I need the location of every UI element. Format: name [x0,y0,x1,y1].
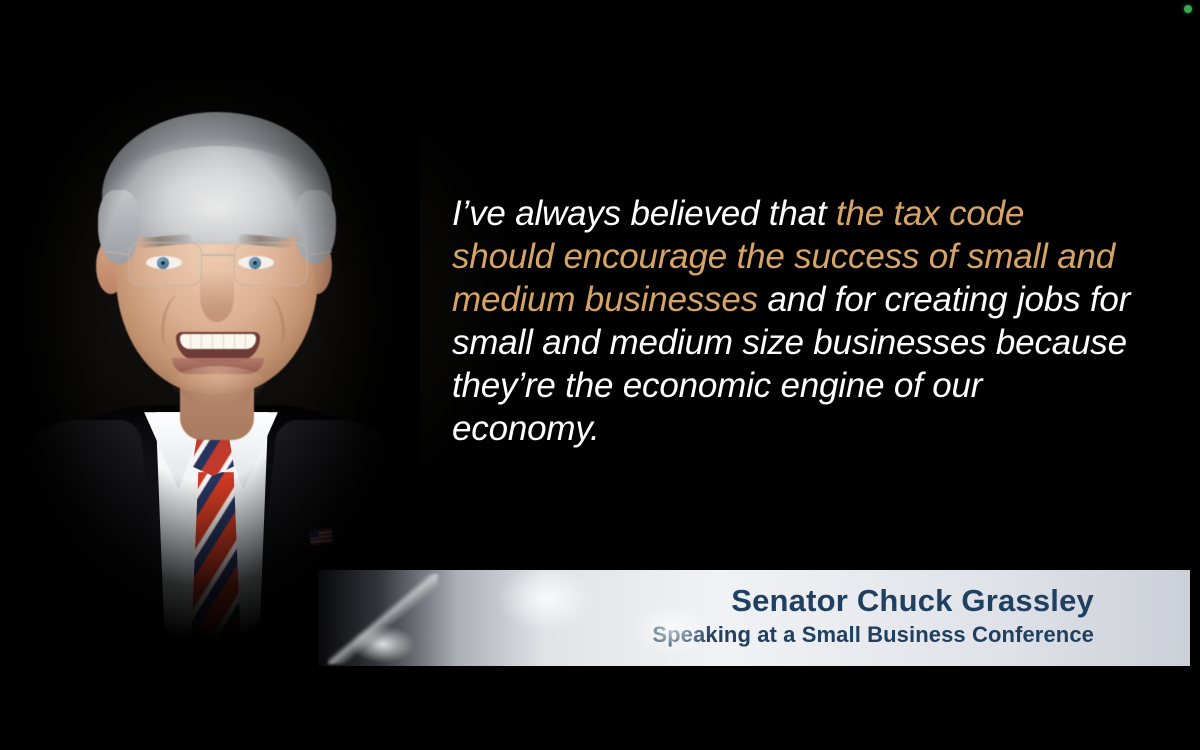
video-surface[interactable]: I’ve always believed that the tax code s… [0,0,1200,678]
lower-third-text: Senator Chuck Grassley Speaking at a Sma… [652,582,1094,650]
lens-left [128,242,202,286]
shoulder-left [9,420,164,660]
speaker-name: Senator Chuck Grassley [652,582,1094,620]
quote-segment-plain-1: I’ve always believed that [452,194,836,233]
necktie-body [190,472,242,672]
player-controls-bar[interactable]: 01:34 Exit full screen [0,678,1200,750]
american-flag-lapel-pin [309,529,332,545]
necktie-stripes [190,472,242,672]
quote-overlay: I’ve always believed that the tax code s… [452,192,1132,450]
nose [200,272,234,322]
chin [166,366,270,408]
lens-right [234,242,308,286]
teeth [180,334,256,349]
recording-indicator [1184,5,1192,13]
speaker-subtitle: Speaking at a Small Business Conference [652,620,1094,650]
video-player[interactable]: I’ve always believed that the tax code s… [0,0,1200,750]
glasses-bridge [202,254,234,256]
lower-third-banner: Senator Chuck Grassley Speaking at a Sma… [318,570,1190,666]
